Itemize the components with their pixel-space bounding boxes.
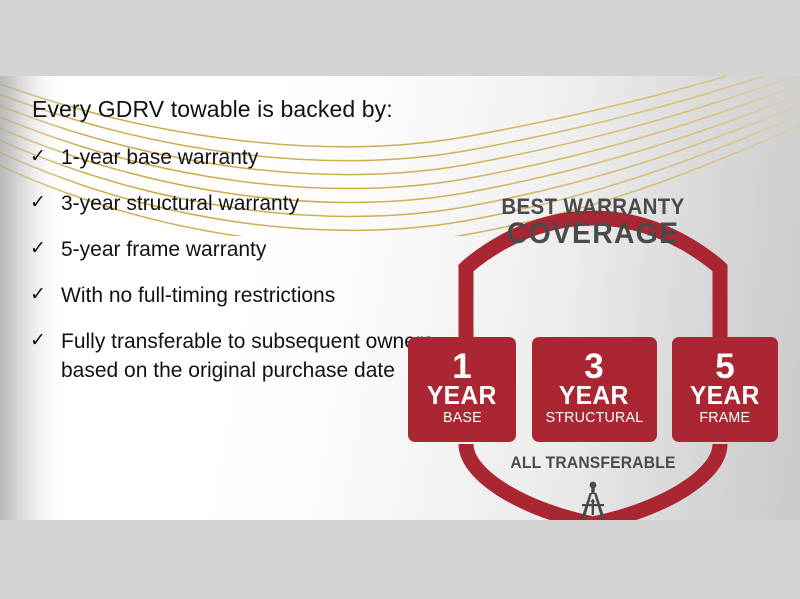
slide-canvas: Every GDRV towable is backed by: ✓ 1-yea… [0, 0, 800, 599]
list-item-label: Fully transferable to subsequent owners … [61, 330, 433, 382]
tile-label: FRAME [700, 408, 751, 427]
list-item: ✓ 3-year structural warranty [30, 189, 450, 218]
headline: Every GDRV towable is backed by: [32, 96, 450, 123]
compass-divider-icon [565, 478, 621, 520]
list-item: ✓ With no full-timing restrictions [30, 281, 450, 310]
coverage-tiles: 1 YEAR BASE 3 YEAR STRUCTURAL 5 YEAR FRA… [408, 337, 778, 442]
letterbox-bar-top [0, 0, 800, 76]
check-icon: ✓ [30, 326, 46, 355]
list-item-label: 3-year structural warranty [61, 192, 299, 215]
tile-number: 3 [584, 350, 603, 383]
coverage-tile-structural: 3 YEAR STRUCTURAL [532, 337, 657, 442]
check-icon: ✓ [30, 234, 46, 263]
warranty-copy-block: Every GDRV towable is backed by: ✓ 1-yea… [30, 96, 450, 402]
tile-label: BASE [443, 408, 482, 427]
tile-number: 5 [715, 350, 734, 383]
tile-number: 1 [452, 350, 471, 383]
tile-unit: YEAR [690, 383, 760, 408]
list-item-label: 1-year base warranty [61, 146, 258, 169]
letterbox-bar-bottom [0, 520, 800, 599]
badge-footer: ALL TRANSFERABLE [414, 453, 773, 473]
check-icon: ✓ [30, 280, 46, 309]
check-icon: ✓ [30, 188, 46, 217]
badge-title-line2: COVERAGE [408, 217, 779, 251]
list-item: ✓ 1-year base warranty [30, 143, 450, 172]
warranty-checklist: ✓ 1-year base warranty ✓ 3-year structur… [30, 143, 450, 385]
list-item: ✓ Fully transferable to subsequent owner… [30, 327, 450, 385]
artwork-panel: Every GDRV towable is backed by: ✓ 1-yea… [0, 76, 800, 520]
tile-unit: YEAR [559, 383, 629, 408]
tile-label: STRUCTURAL [545, 408, 643, 427]
list-item-label: With no full-timing restrictions [61, 284, 335, 307]
check-icon: ✓ [30, 142, 46, 171]
coverage-tile-frame: 5 YEAR FRAME [672, 337, 778, 442]
list-item: ✓ 5-year frame warranty [30, 235, 450, 264]
list-item-label: 5-year frame warranty [61, 238, 266, 261]
coverage-tile-base: 1 YEAR BASE [408, 337, 516, 442]
warranty-badge: BEST WARRANTY COVERAGE 1 YEAR BASE 3 YEA… [398, 156, 788, 520]
tile-unit: YEAR [427, 383, 497, 408]
